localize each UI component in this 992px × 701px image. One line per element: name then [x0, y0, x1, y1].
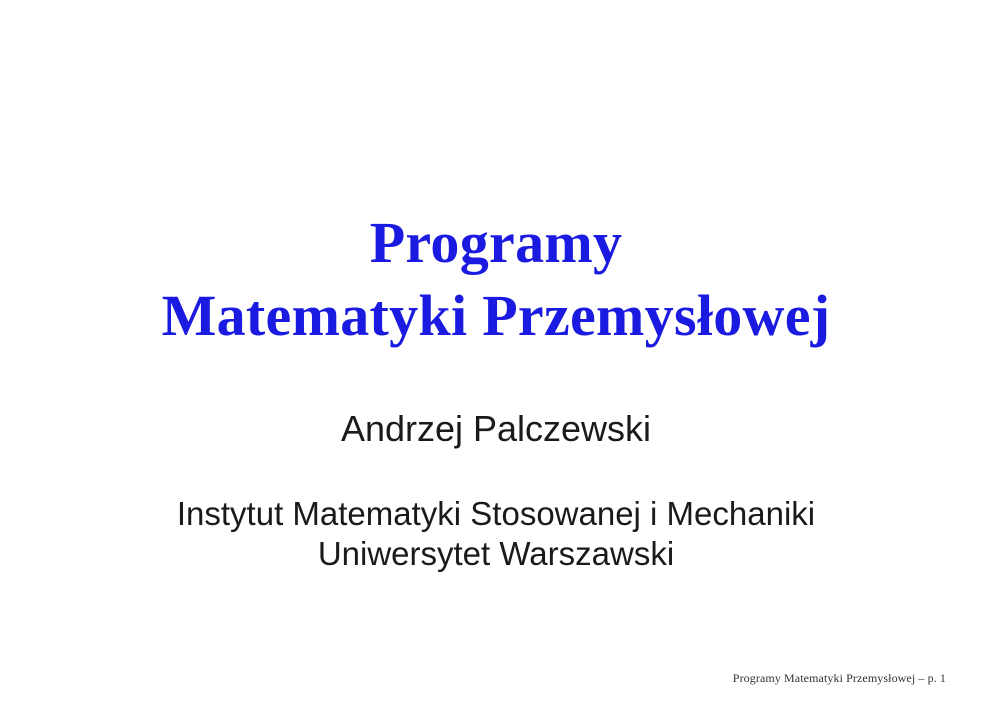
- title-line-primary: Programy: [0, 207, 992, 279]
- affiliation-university: Uniwersytet Warszawski: [0, 534, 992, 574]
- presentation-title-slide: Programy Matematyki Przemysłowej Andrzej…: [0, 0, 992, 701]
- title-line-secondary: Matematyki Przemysłowej: [0, 279, 992, 353]
- affiliation-institute: Instytut Matematyki Stosowanej i Mechani…: [0, 494, 992, 534]
- author-affiliation: Instytut Matematyki Stosowanej i Mechani…: [0, 494, 992, 574]
- author-name: Andrzej Palczewski: [0, 407, 992, 451]
- slide-title: Programy Matematyki Przemysłowej: [0, 207, 992, 353]
- slide-footer: Programy Matematyki Przemysłowej – p. 1: [733, 671, 946, 685]
